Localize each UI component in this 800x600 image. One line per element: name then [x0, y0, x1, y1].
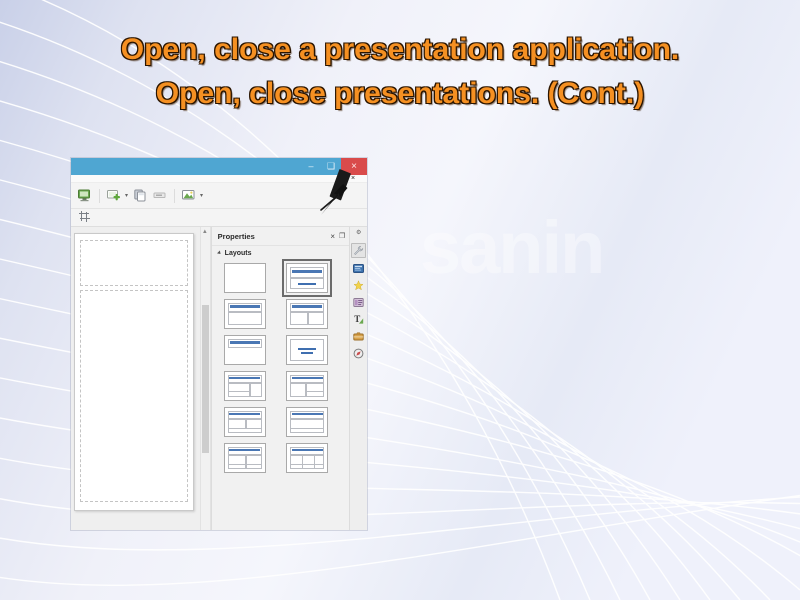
layout-thumb-title-six-content[interactable] [286, 443, 328, 473]
sidebar-settings-icon[interactable]: ⚙ [356, 229, 361, 239]
close-button[interactable]: × [341, 158, 367, 175]
insert-image-dropdown-caret[interactable]: ▾ [200, 192, 203, 199]
app-body: ▲ Properties × ❐ Layouts [71, 227, 367, 530]
start-from-first-slide-icon[interactable] [77, 188, 93, 203]
embedded-app-screenshot: – ❑ × ▾ ▾ [71, 158, 367, 530]
sidebar-slide-transition-icon[interactable] [352, 262, 365, 275]
slide-editing-area[interactable] [71, 227, 200, 530]
layout-thumb-title-four-content[interactable] [224, 443, 266, 473]
app-toolbar-secondary [71, 209, 367, 227]
minimize-button[interactable]: – [301, 158, 321, 175]
page-title: Open, close a presentation application. … [20, 28, 780, 115]
layout-thumb-title-bar-blank[interactable] [224, 335, 266, 365]
delete-slide-icon[interactable] [152, 188, 168, 203]
properties-panel-header: Properties × ❐ [212, 227, 350, 246]
menu-bar-strip [71, 175, 367, 183]
properties-panel: Properties × ❐ Layouts [211, 227, 350, 530]
app-title-bar: – ❑ × [71, 158, 367, 175]
toolbar-separator [99, 189, 100, 203]
crop-frame-icon[interactable] [78, 210, 94, 225]
layouts-grid [212, 260, 350, 530]
content-placeholder[interactable] [80, 290, 188, 502]
insert-image-icon[interactable] [181, 188, 197, 203]
sidebar-styles-text-icon[interactable]: T [352, 313, 365, 326]
presentation-slide: sanin Open, close a presentation applica… [0, 0, 800, 600]
properties-panel-title: Properties [218, 232, 327, 241]
svg-text:T: T [354, 314, 360, 324]
layout-thumb-title-two-rows[interactable] [286, 407, 328, 437]
layout-thumb-blank[interactable] [224, 263, 266, 293]
properties-options-icon[interactable]: ❐ [339, 232, 345, 240]
layouts-section-header[interactable]: Layouts [212, 246, 350, 260]
scrollbar-thumb[interactable] [202, 305, 209, 453]
sidebar-rail: ⚙ T [349, 227, 367, 530]
sidebar-navigator-icon[interactable] [352, 347, 365, 360]
sidebar-master-slides-icon[interactable] [352, 296, 365, 309]
scrollbar-up-icon[interactable]: ▲ [202, 229, 208, 235]
title-line-2: Open, close presentations. (Cont.) [20, 72, 780, 116]
sidebar-gallery-icon[interactable] [352, 330, 365, 343]
properties-close-icon[interactable]: × [330, 232, 335, 241]
layout-thumb-centered-text[interactable] [286, 335, 328, 365]
collapse-triangle-icon[interactable] [217, 251, 222, 256]
background-watermark: sanin [420, 205, 720, 295]
title-placeholder[interactable] [80, 240, 188, 286]
sidebar-animation-star-icon[interactable] [352, 279, 365, 292]
maximize-button[interactable]: ❑ [321, 158, 341, 175]
layout-thumb-title-content[interactable] [286, 263, 328, 293]
layout-thumb-title-only-content[interactable] [224, 299, 266, 329]
layout-thumb-title-two-content[interactable] [286, 299, 328, 329]
layout-thumb-title-two-left-one-right[interactable] [224, 371, 266, 401]
sidebar-properties-wrench-icon[interactable] [351, 243, 366, 258]
layout-thumb-title-two-top-one-bottom[interactable] [224, 407, 266, 437]
duplicate-slide-icon[interactable] [133, 188, 149, 203]
layouts-section-label: Layouts [225, 250, 252, 257]
new-slide-icon[interactable] [106, 188, 122, 203]
layout-thumb-title-one-left-two-right[interactable] [286, 371, 328, 401]
close-hint-x-icon: × [351, 175, 355, 182]
app-toolbar: ▾ ▾ [71, 183, 367, 209]
slide-canvas[interactable] [74, 233, 194, 511]
title-line-1: Open, close a presentation application. [20, 28, 780, 72]
toolbar-separator-2 [174, 189, 175, 203]
new-slide-dropdown-caret[interactable]: ▾ [125, 192, 128, 199]
vertical-scrollbar[interactable]: ▲ [200, 227, 211, 530]
